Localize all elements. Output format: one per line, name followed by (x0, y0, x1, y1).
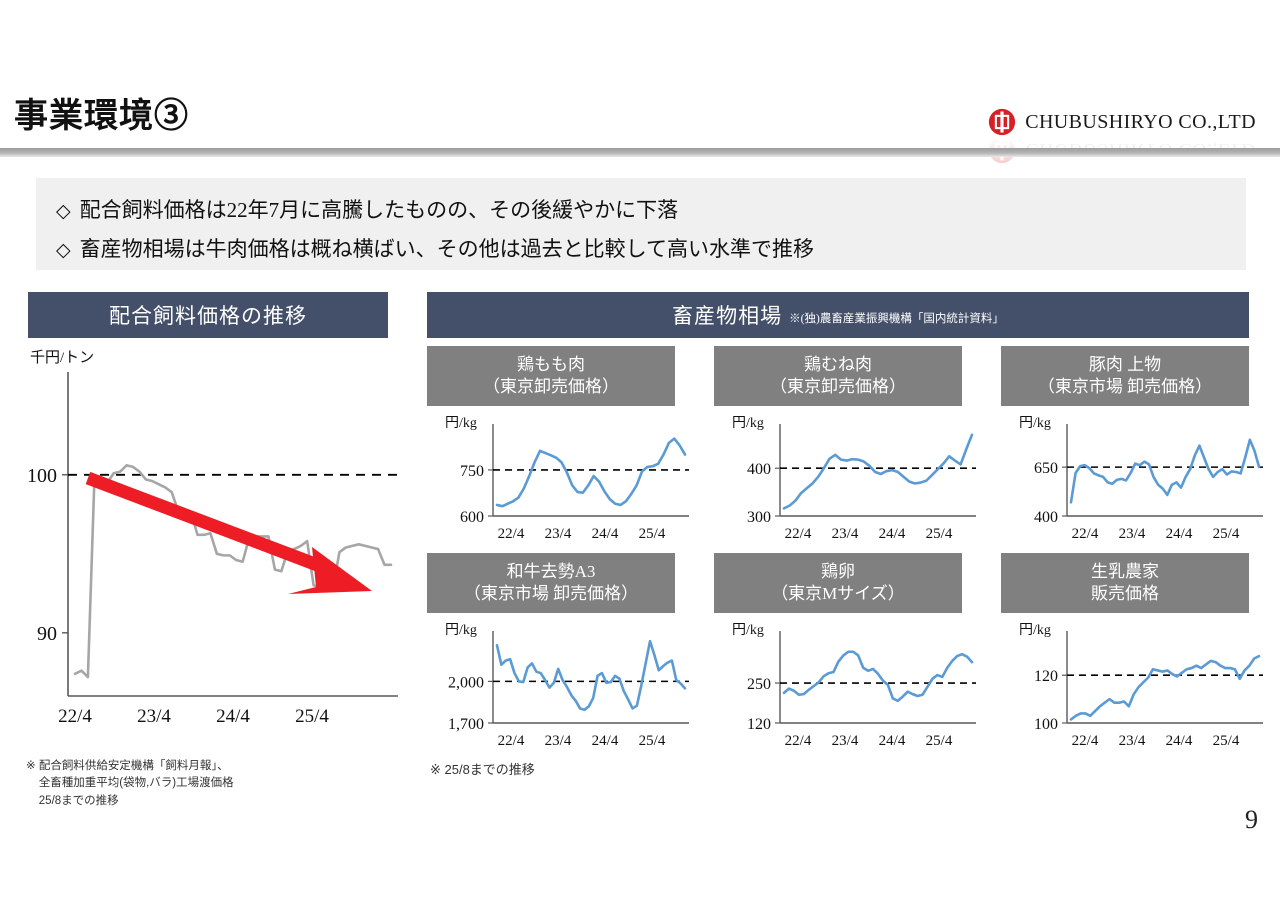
svg-text:300: 300 (747, 509, 771, 526)
svg-text:23/4: 23/4 (832, 526, 859, 542)
svg-text:23/4: 23/4 (545, 733, 572, 749)
right-chart-footnote: ※ 25/8までの推移 (430, 760, 535, 780)
feed-price-plot: 9010022/423/424/425/4 (20, 344, 410, 754)
pork-premium-chart: 円/kg40065022/423/424/425/4 (1001, 412, 1273, 547)
header-divider (0, 148, 1280, 157)
company-logo-icon (988, 108, 1016, 136)
feed-price-chart: 千円/トン 9010022/423/424/425/4 (20, 344, 410, 754)
svg-text:25/4: 25/4 (295, 706, 329, 727)
svg-text:22/4: 22/4 (498, 733, 525, 749)
raw-milk-subtitle: 販売価格 (1091, 583, 1159, 605)
slide-root: 事業環境③ CHUBUSHIRYO CO.,LTD CHUBUSHIRYO CO… (0, 0, 1280, 905)
svg-text:25/4: 25/4 (1213, 526, 1240, 542)
chicken-thigh-chart: 円/kg60075022/423/424/425/4 (427, 412, 699, 547)
svg-text:25/4: 25/4 (1213, 733, 1240, 749)
company-name: CHUBUSHIRYO CO.,LTD (1025, 111, 1256, 134)
pork-premium-subtitle: （東京市場 卸売価格） (1038, 376, 1212, 398)
svg-text:22/4: 22/4 (58, 706, 92, 727)
eggs-plot: 12025022/423/424/425/4 (714, 619, 986, 754)
raw-milk-y-unit: 円/kg (1019, 619, 1051, 639)
svg-text:23/4: 23/4 (1119, 733, 1146, 749)
left-panel-header: 配合飼料価格の推移 (28, 292, 388, 338)
svg-text:100: 100 (27, 465, 57, 487)
page-title: 事業環境③ (14, 100, 189, 134)
svg-text:250: 250 (747, 676, 771, 693)
eggs-header: 鶏卵（東京Mサイズ） (714, 553, 962, 613)
svg-text:24/4: 24/4 (592, 733, 619, 749)
left-panel-header-label: 配合飼料価格の推移 (109, 300, 307, 330)
raw-milk-header: 生乳農家販売価格 (1001, 553, 1249, 613)
svg-text:400: 400 (747, 461, 771, 478)
chicken-breast-y-unit: 円/kg (732, 412, 764, 432)
chicken-thigh-title: 鶏もも肉 (517, 354, 585, 376)
chicken-thigh-y-unit: 円/kg (445, 412, 477, 432)
pork-premium-plot: 40065022/423/424/425/4 (1001, 412, 1273, 547)
svg-text:23/4: 23/4 (1119, 526, 1146, 542)
svg-text:22/4: 22/4 (1072, 526, 1099, 542)
chicken-breast-subtitle: （東京卸売価格） (770, 376, 906, 398)
eggs-chart: 円/kg12025022/423/424/425/4 (714, 619, 986, 754)
left-chart-footnote: ※ 配合飼料供給安定機構「飼料月報」、 全畜種加重平均(袋物,バラ)工場渡価格 … (26, 758, 234, 810)
svg-text:2,000: 2,000 (448, 674, 484, 691)
svg-text:23/4: 23/4 (545, 526, 572, 542)
raw-milk-chart: 円/kg10012022/423/424/425/4 (1001, 619, 1273, 754)
company-logo: CHUBUSHIRYO CO.,LTD (988, 108, 1256, 136)
eggs-y-unit: 円/kg (732, 619, 764, 639)
bullet-1-text: 配合飼料価格は22年7月に高騰したものの、その後緩やかに下落 (80, 198, 679, 222)
wagyu-a3-chart: 円/kg1,7002,00022/423/424/425/4 (427, 619, 699, 754)
svg-text:24/4: 24/4 (879, 526, 906, 542)
chicken-breast-plot: 30040022/423/424/425/4 (714, 412, 986, 547)
bullet-2: ◇畜産物相場は牛肉価格は概ね横ばい、その他は過去と比較して高い水準で推移 (56, 233, 814, 263)
svg-text:25/4: 25/4 (639, 526, 666, 542)
diamond-icon: ◇ (56, 201, 71, 222)
pork-premium-title: 豚肉 上物 (1089, 354, 1161, 376)
svg-text:1,700: 1,700 (448, 716, 484, 733)
svg-text:22/4: 22/4 (785, 526, 812, 542)
svg-text:24/4: 24/4 (592, 526, 619, 542)
svg-text:25/4: 25/4 (926, 526, 953, 542)
wagyu-a3-y-unit: 円/kg (445, 619, 477, 639)
wagyu-a3-subtitle: （東京市場 卸売価格） (464, 583, 638, 605)
svg-text:22/4: 22/4 (785, 733, 812, 749)
svg-text:750: 750 (460, 463, 484, 480)
eggs-title: 鶏卵 (821, 561, 855, 583)
chicken-thigh-header: 鶏もも肉（東京卸売価格） (427, 346, 675, 406)
pork-premium-header: 豚肉 上物（東京市場 卸売価格） (1001, 346, 1249, 406)
svg-text:120: 120 (1034, 668, 1058, 685)
svg-text:650: 650 (1034, 460, 1058, 477)
wagyu-a3-plot: 1,7002,00022/423/424/425/4 (427, 619, 699, 754)
bullet-2-text: 畜産物相場は牛肉価格は概ね横ばい、その他は過去と比較して高い水準で推移 (80, 237, 814, 261)
svg-text:400: 400 (1034, 509, 1058, 526)
chicken-thigh-subtitle: （東京卸売価格） (483, 376, 619, 398)
svg-text:100: 100 (1034, 716, 1058, 733)
svg-text:120: 120 (747, 716, 771, 733)
wagyu-a3-title: 和牛去勢A3 (507, 561, 596, 583)
chicken-thigh-plot: 60075022/423/424/425/4 (427, 412, 699, 547)
page-number: 9 (1245, 805, 1258, 835)
svg-text:23/4: 23/4 (137, 706, 171, 727)
right-panel-header-label: 畜産物相場 (672, 300, 782, 330)
svg-text:24/4: 24/4 (879, 733, 906, 749)
feed-price-y-unit: 千円/トン (30, 346, 94, 367)
svg-text:24/4: 24/4 (1166, 733, 1193, 749)
eggs-subtitle: （東京Mサイズ） (771, 583, 905, 605)
svg-text:24/4: 24/4 (216, 706, 250, 727)
svg-text:600: 600 (460, 509, 484, 526)
chicken-breast-title: 鶏むね肉 (804, 354, 872, 376)
svg-text:24/4: 24/4 (1166, 526, 1193, 542)
diamond-icon: ◇ (56, 240, 71, 261)
svg-text:25/4: 25/4 (639, 733, 666, 749)
svg-text:90: 90 (37, 623, 57, 645)
chicken-breast-header: 鶏むね肉（東京卸売価格） (714, 346, 962, 406)
chicken-breast-chart: 円/kg30040022/423/424/425/4 (714, 412, 986, 547)
summary-box: ◇配合飼料価格は22年7月に高騰したものの、その後緩やかに下落 ◇畜産物相場は牛… (36, 178, 1246, 270)
raw-milk-plot: 10012022/423/424/425/4 (1001, 619, 1273, 754)
svg-text:23/4: 23/4 (832, 733, 859, 749)
svg-text:22/4: 22/4 (498, 526, 525, 542)
pork-premium-y-unit: 円/kg (1019, 412, 1051, 432)
bullet-1: ◇配合飼料価格は22年7月に高騰したものの、その後緩やかに下落 (56, 194, 678, 224)
svg-text:22/4: 22/4 (1072, 733, 1099, 749)
right-panel-source-note: ※(独)農畜産業振興機構「国内統計資料」 (789, 310, 1004, 326)
wagyu-a3-header: 和牛去勢A3（東京市場 卸売価格） (427, 553, 675, 613)
raw-milk-title: 生乳農家 (1091, 561, 1159, 583)
right-panel-header: 畜産物相場 ※(独)農畜産業振興機構「国内統計資料」 (427, 292, 1249, 338)
svg-text:25/4: 25/4 (926, 733, 953, 749)
